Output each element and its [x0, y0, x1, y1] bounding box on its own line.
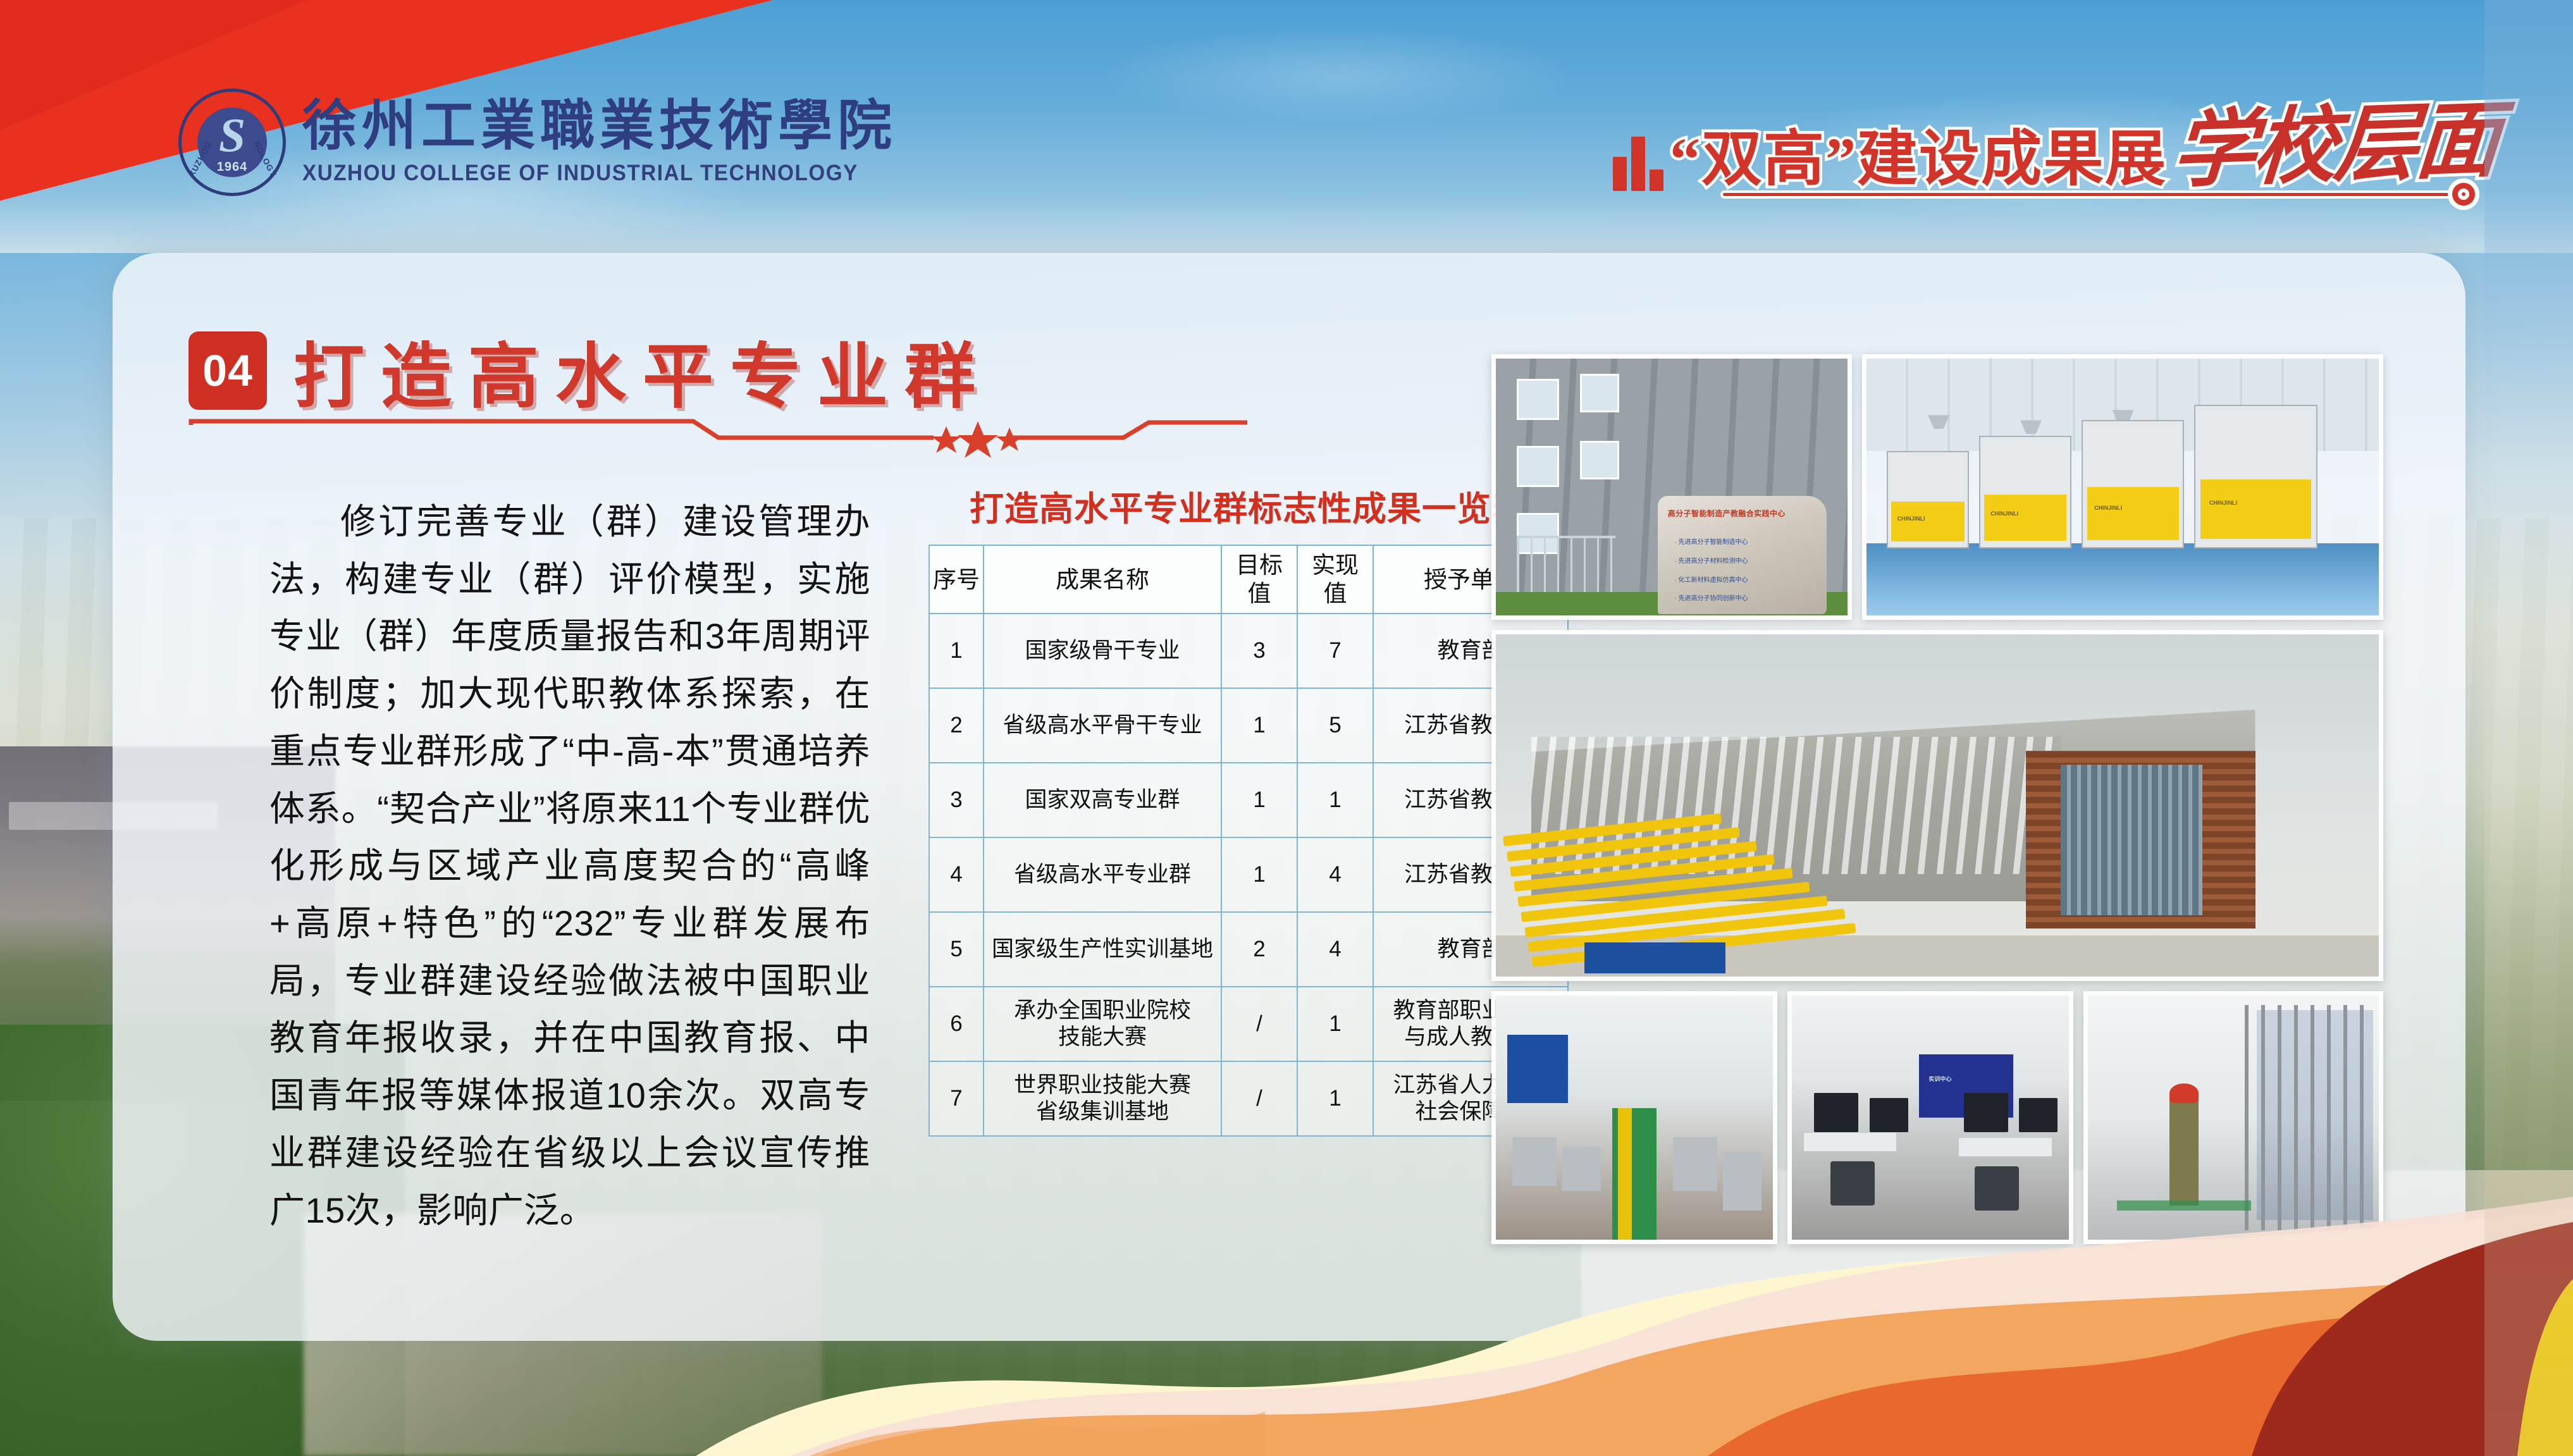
header-banner: “双高”建设成果展 学校层面 [1613, 76, 2497, 202]
stone-caption-main: 高分子智能制造产教融合实践中心 [1668, 508, 1786, 519]
school-name-block: 徐州工業職業技術學院 XUZHOU COLLEGE OF INDUSTRIAL … [302, 99, 897, 186]
cell-actual: 4 [1297, 912, 1373, 987]
cell-target: 1 [1221, 763, 1297, 837]
th-target: 目标值 [1221, 545, 1297, 614]
school-emblem-icon: S 1964 XUZHOU NOLOGY [178, 89, 286, 196]
table-row: 7世界职业技能大赛省级集训基地/1江苏省人力资源社会保障厅 [929, 1061, 1568, 1136]
cell-name: 省级高水平专业群 [984, 837, 1221, 912]
results-table-zone: 打造高水平专业群标志性成果一览表 序号 成果名称 目标值 实现值 授予单位 [929, 481, 1567, 1137]
cell-name: 国家双高专业群 [984, 763, 1221, 837]
crane-fleet [1496, 819, 1849, 963]
cell-name: 承办全国职业院校技能大赛 [984, 987, 1221, 1061]
cell-index: 5 [929, 912, 984, 987]
th-index: 序号 [929, 545, 984, 614]
cell-target: / [1221, 1061, 1297, 1136]
cell-index: 6 [929, 987, 984, 1061]
table-row: 3国家双高专业群11江苏省教育厅 [929, 763, 1568, 837]
cell-index: 7 [929, 1061, 984, 1136]
cell-actual: 5 [1297, 688, 1373, 763]
right-edge-gradient [2484, 0, 2573, 1456]
table-row: 1国家级骨干专业37教育部 [929, 614, 1568, 688]
cell-actual: 4 [1297, 837, 1373, 912]
cell-name: 国家级骨干专业 [984, 614, 1221, 688]
cell-target: 1 [1221, 837, 1297, 912]
cell-index: 2 [929, 688, 984, 763]
banner-underline-bar [1720, 190, 2467, 199]
body-paragraph: 修订完善专业（群）建设管理办法，构建专业（群）评价模型，实施专业（群）年度质量报… [269, 493, 870, 1239]
section-title-row: 04 打造高水平专业群 [188, 319, 992, 422]
cell-index: 3 [929, 763, 984, 837]
cell-actual: 1 [1297, 987, 1373, 1061]
table-row: 6承办全国职业院校技能大赛/1教育部职业教育与成人教育司 [929, 987, 1568, 1061]
cell-index: 4 [929, 837, 984, 912]
classroom-wall-text: 实训中心 [1928, 1075, 1951, 1083]
cell-name: 省级高水平骨干专业 [984, 688, 1221, 763]
machine-label-2: CHINJINLI [1990, 510, 2018, 517]
emblem-year: 1964 [217, 160, 248, 175]
machine-label-4: CHINJINLI [2209, 500, 2237, 506]
table-row: 2省级高水平骨干专业15江苏省教育厅 [929, 688, 1568, 763]
stone-caption-line-3: · 化工新材料虚拟仿真中心 [1674, 574, 1748, 584]
table-row: 5国家级生产性实训基地24教育部 [929, 912, 1568, 987]
machine-label-3: CHINJINLI [2094, 505, 2122, 511]
photo-computer-lab: 实训中心 [1787, 991, 2073, 1244]
photo-polymer-center-building: 高分子智能制造产教融合实践中心 · 先进高分子智能制造中心 · 先进高分子材料检… [1491, 354, 1852, 620]
table-row: 4省级高水平专业群14江苏省教育厅 [929, 837, 1568, 912]
bar-chart-icon [1613, 133, 1663, 191]
section-divider-rule [187, 416, 1250, 454]
poster-root: S 1964 XUZHOU NOLOGY 徐州工業職業技術學院 XUZHOU C… [0, 0, 2573, 1456]
results-table: 序号 成果名称 目标值 实现值 授予单位 1国家级骨干专业37教育部2省级高水平… [929, 545, 1569, 1137]
photo-rubber-press-hall: CHINJINLI CHINJINLI CHINJINLI CHINJINLI [1862, 354, 2383, 620]
table-body: 1国家级骨干专业37教育部2省级高水平骨干专业15江苏省教育厅3国家双高专业群1… [929, 614, 1568, 1136]
photo-training-base-exterior [1491, 630, 2383, 981]
school-name-english: XUZHOU COLLEGE OF INDUSTRIAL TECHNOLOGY [302, 161, 867, 186]
th-actual: 实现值 [1297, 545, 1373, 614]
cell-name: 世界职业技能大赛省级集训基地 [984, 1061, 1221, 1136]
cell-actual: 1 [1297, 763, 1373, 837]
cell-actual: 1 [1297, 1061, 1373, 1136]
table-header-row: 序号 成果名称 目标值 实现值 授予单位 [929, 545, 1568, 614]
machine-label-1: CHINJINLI [1897, 515, 1925, 522]
cell-name: 国家级生产性实训基地 [984, 912, 1221, 987]
photo-gallery: 高分子智能制造产教融合实践中心 · 先进高分子智能制造中心 · 先进高分子材料检… [1491, 354, 2383, 1244]
cell-target: 3 [1221, 614, 1297, 688]
th-name: 成果名称 [984, 545, 1221, 614]
stone-caption-line-4: · 先进高分子协同创新中心 [1674, 593, 1748, 602]
stone-caption-line-2: · 先进高分子材料检测中心 [1674, 555, 1748, 565]
cell-target: / [1221, 987, 1297, 1061]
cell-target: 1 [1221, 688, 1297, 763]
photo-chemical-pilot-plant [2083, 991, 2383, 1244]
cell-target: 2 [1221, 912, 1297, 987]
content-panel: 04 打造高水平专业群 修订完善专业（群）建设管理办法，构建专业（群）评价模型，… [113, 253, 2465, 1341]
banner-main-text: “双高”建设成果展 [1670, 109, 2167, 197]
stone-marker: 高分子智能制造产教融合实践中心 · 先进高分子智能制造中心 · 先进高分子材料检… [1658, 496, 1827, 614]
section-title-text: 打造高水平专业群 [293, 319, 992, 422]
emblem-swirl-glyph: S [219, 108, 245, 163]
cell-index: 1 [929, 614, 984, 688]
stone-caption-line-1: · 先进高分子智能制造中心 [1674, 536, 1748, 546]
banner-end-dot-icon [2448, 178, 2479, 210]
section-number-badge: 04 [188, 331, 267, 410]
photo-production-line-corridor [1491, 991, 1777, 1244]
cell-actual: 7 [1297, 614, 1373, 688]
school-name-chinese: 徐州工業職業技術學院 [302, 99, 897, 153]
school-logo-block: S 1964 XUZHOU NOLOGY 徐州工業職業技術學院 XUZHOU C… [178, 89, 897, 196]
table-title: 打造高水平专业群标志性成果一览表 [929, 481, 1567, 531]
